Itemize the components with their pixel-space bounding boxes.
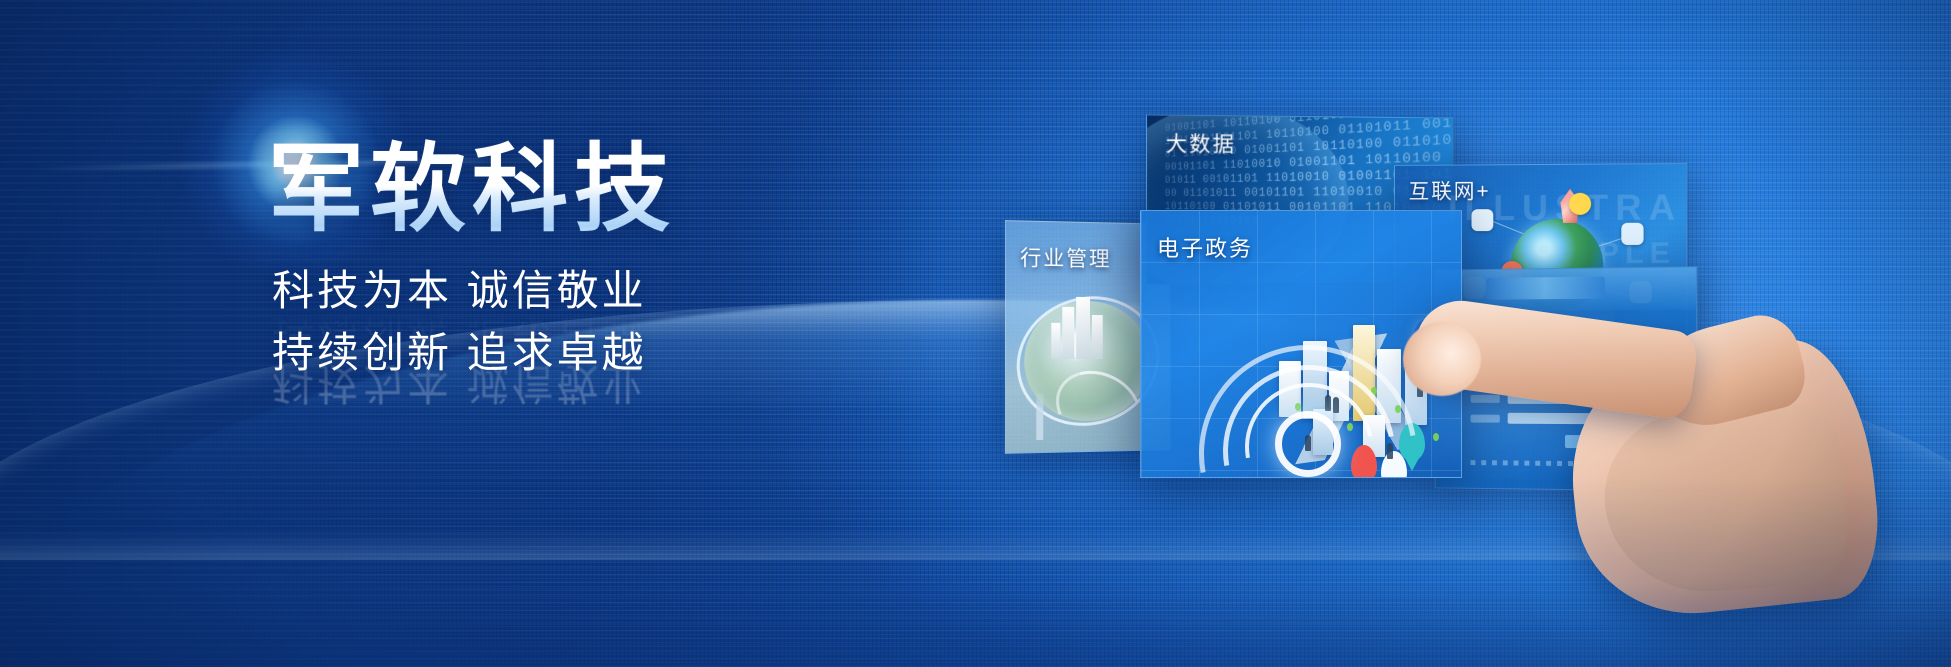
card-label-e-government: 电子政务 [1157, 231, 1253, 263]
vignette [0, 0, 1951, 667]
banner-stage: 军软科技 科技为本 诚信敬业 持续创新 追求卓越 科技为本 诚信敬业 持续创新 … [0, 0, 1951, 667]
